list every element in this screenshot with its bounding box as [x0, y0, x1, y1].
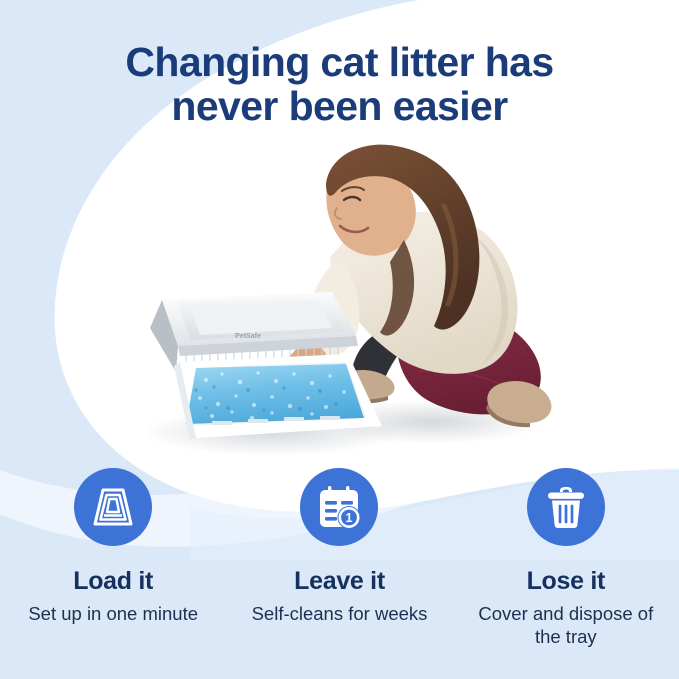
feature-subtitle-3: Cover and dispose of the tray — [468, 602, 663, 649]
feature-subtitle-2: Self-cleans for weeks — [252, 602, 428, 626]
feature-icon-circle-3 — [527, 468, 605, 546]
hero-photo: Woman kneeling on floor sliding a blue c… — [0, 140, 679, 470]
feature-icon-circle-1 — [74, 468, 152, 546]
litter-tray-icon — [87, 481, 139, 533]
feature-title-2: Leave it — [294, 568, 385, 596]
headline-line-2: never been easier — [0, 84, 679, 128]
product-feature-advertisement: Changing cat litter has never been easie… — [0, 0, 679, 679]
feature-icon-circle-2: 1 — [300, 468, 378, 546]
feature-leave-it[interactable]: 1 Leave it Self-cleans for weeks — [226, 468, 452, 679]
feature-list: Load it Set up in one minute — [0, 468, 679, 679]
headline: Changing cat litter has never been easie… — [0, 40, 679, 129]
feature-lose-it[interactable]: Lose it Cover and dispose of the tray — [453, 468, 679, 679]
feature-title-3: Lose it — [527, 568, 605, 596]
feature-load-it[interactable]: Load it Set up in one minute — [0, 468, 226, 679]
calendar-one-icon: 1 — [313, 481, 365, 533]
trash-can-icon — [540, 481, 592, 533]
headline-line-1: Changing cat litter has — [0, 40, 679, 84]
product-brand-label: PetSafe — [235, 333, 261, 340]
feature-subtitle-1: Set up in one minute — [28, 602, 198, 626]
calendar-badge-value: 1 — [346, 511, 353, 525]
feature-title-1: Load it — [73, 568, 153, 596]
